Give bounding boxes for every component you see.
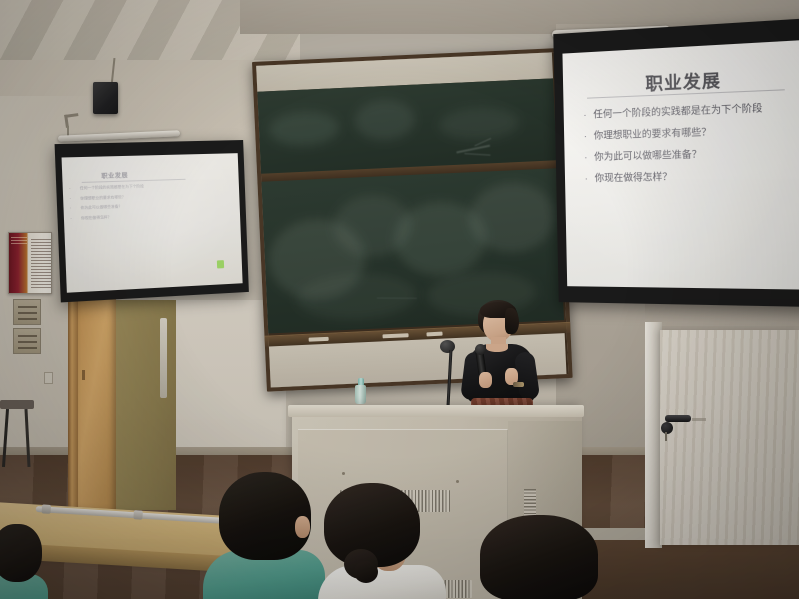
door-left[interactable] <box>78 296 116 518</box>
student-left-ear <box>295 516 310 538</box>
slide-bullet-4: 你现在做得怎样？ <box>594 165 764 190</box>
blackboard-panel-upper <box>257 78 557 175</box>
slide-bullet-list: 任何一个阶段的实践都是在为下个阶段 你理想职业的要求有哪些？ 你为此可以做哪些准… <box>593 98 764 190</box>
student-left-head <box>219 472 311 560</box>
presenter-hair-side <box>505 308 519 334</box>
door-left-mark <box>82 370 85 380</box>
projection-screen-right[interactable]: 职业发展 任何一个阶段的实践都是在为下个阶段 你理想职业的要求有哪些？ 你为此可… <box>553 18 799 308</box>
presenter-collar <box>486 344 508 352</box>
notice-sign-upper <box>13 299 41 325</box>
lecture-hall-photo: 职业发展 任何一个阶段的实践都是在为下个阶段 你理想职业的要求有哪些？ 你为此可… <box>0 0 799 599</box>
handheld-microphone-head-icon <box>475 344 486 355</box>
door-key <box>665 432 667 441</box>
door-frame-left <box>68 288 78 518</box>
water-bottle <box>355 378 366 404</box>
student-center <box>310 483 445 599</box>
student-far-left <box>0 524 44 599</box>
microphone-pole <box>447 350 453 406</box>
door-handle-icon[interactable] <box>665 415 691 422</box>
presenter <box>455 300 550 418</box>
student-right <box>480 515 600 599</box>
door-lock-icon[interactable] <box>661 422 673 434</box>
wall-pillar <box>116 300 176 510</box>
slide-bullet-left-4: 你现在做得怎样？ <box>81 211 145 223</box>
presenter-hand-left <box>479 372 492 388</box>
door-right-latch <box>692 418 706 421</box>
poster-text-lines <box>31 239 51 289</box>
student-left <box>203 472 325 599</box>
lectern-top <box>288 405 584 417</box>
bottle-body <box>355 385 366 404</box>
student-right-head <box>480 515 598 599</box>
pillar-light-strip <box>160 318 167 398</box>
student-center-ponytail-tip <box>354 561 378 583</box>
wall-poster <box>8 232 52 294</box>
screen-sticker <box>217 260 224 268</box>
poster-header-lines <box>11 237 27 246</box>
presenter-watch <box>513 382 524 387</box>
wall-outlet <box>44 372 53 384</box>
slide-left: 职业发展 任何一个阶段的实践都是在为下个阶段 你理想职业的要求有哪些？ 你为此可… <box>62 153 243 293</box>
door-right[interactable] <box>660 330 799 545</box>
projection-screen-left[interactable]: 职业发展 任何一个阶段的实践都是在为下个阶段 你理想职业的要求有哪些？ 你为此可… <box>55 140 249 302</box>
slide-right: 职业发展 任何一个阶段的实践都是在为下个阶段 你理想职业的要求有哪些？ 你为此可… <box>562 40 799 290</box>
microphone-head-icon <box>440 340 455 353</box>
notice-sign-lower <box>13 328 41 354</box>
folding-chair <box>0 400 34 470</box>
slide-bullet-list-left: 任何一个阶段的实践都是在为下个阶段 你理想职业的要求有哪些？ 你为此可以做哪些准… <box>80 182 146 223</box>
wall-speaker-icon <box>93 82 118 114</box>
